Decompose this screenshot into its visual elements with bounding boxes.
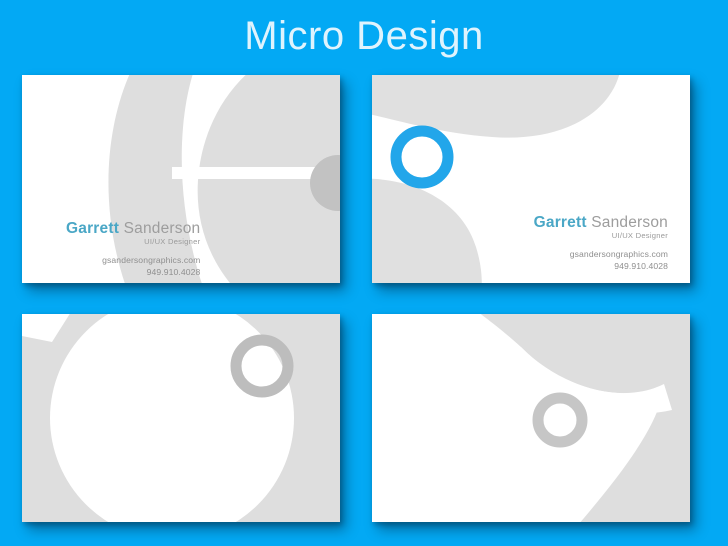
card-1-role: UI/UX Designer	[66, 238, 200, 246]
card-4-decoration	[372, 314, 690, 522]
card-2-name: Garrett Sanderson	[534, 215, 668, 231]
page-title: Micro Design	[244, 16, 483, 56]
card-2-website: gsandersongraphics.com	[534, 249, 668, 261]
business-card-1[interactable]: Garrett Sanderson UI/UX Designer gsander…	[22, 75, 340, 283]
card-1-last-name: Sanderson	[119, 220, 200, 237]
card-1-text-block: Garrett Sanderson UI/UX Designer gsander…	[66, 221, 200, 278]
card-2-last-name: Sanderson	[587, 214, 668, 231]
card-2-role: UI/UX Designer	[534, 232, 668, 240]
business-card-2[interactable]: Garrett Sanderson UI/UX Designer gsander…	[372, 75, 690, 283]
business-card-4[interactable]: Garrett Sanderson UI/UX Designer gsander…	[372, 314, 690, 522]
card-1-name: Garrett Sanderson	[66, 221, 200, 237]
blue-ring-icon	[396, 131, 448, 183]
card-1-phone: 949.910.4028	[66, 267, 200, 279]
card-1-first-name: Garrett	[66, 220, 119, 237]
business-card-3[interactable]: Garrett Sanderson UI/UX Designer gsander…	[22, 314, 340, 522]
card-2-text-block: Garrett Sanderson UI/UX Designer gsander…	[534, 215, 668, 272]
card-2-first-name: Garrett	[534, 214, 587, 231]
card-3-decoration	[22, 314, 340, 522]
page-header: Micro Design	[0, 0, 728, 72]
gray-ring-icon	[538, 398, 582, 442]
card-2-phone: 949.910.4028	[534, 261, 668, 273]
card-1-website: gsandersongraphics.com	[66, 255, 200, 267]
